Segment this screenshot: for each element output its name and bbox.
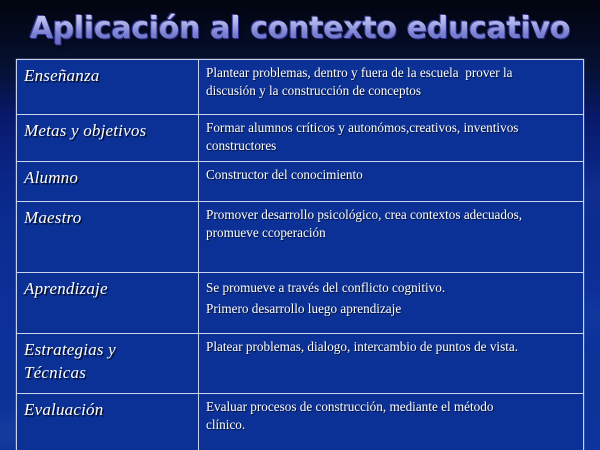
description-line: Evaluar procesos de construcción, median… (206, 398, 576, 416)
description-line: Promover desarrollo psicológico, crea co… (206, 206, 576, 224)
row-description-ensenanza: Plantear problemas, dentro y fuera de la… (199, 60, 584, 115)
slide-title-area: Aplicación al contexto educativo (0, 9, 600, 53)
description-line: Platear problemas, dialogo, intercambio … (206, 338, 576, 356)
row-label-aprendizaje: Aprendizaje (17, 273, 199, 334)
content-table: Enseñanza Plantear problemas, dentro y f… (16, 59, 584, 450)
description-line: Primero desarrollo luego aprendizaje (206, 298, 576, 319)
row-label-metas-y-objetivos: Metas y objetivos (17, 115, 199, 162)
row-label-line: Estrategias y (24, 338, 191, 361)
slide-canvas: Aplicación al contexto educativo Enseñan… (0, 0, 600, 450)
row-description-aprendizaje: Se promueve a través del conflicto cogni… (199, 273, 584, 334)
row-label-alumno: Alumno (17, 162, 199, 202)
table-row: Metas y objetivos Formar alumnos crítico… (17, 115, 584, 162)
description-line: constructores (206, 137, 576, 155)
table-row: Maestro Promover desarrollo psicológico,… (17, 202, 584, 273)
description-line: Formar alumnos críticos y autonómos,crea… (206, 119, 576, 137)
table-row: Aprendizaje Se promueve a través del con… (17, 273, 584, 334)
row-description-maestro: Promover desarrollo psicológico, crea co… (199, 202, 584, 273)
description-line: discusión y la construcción de conceptos (206, 82, 576, 100)
description-line: clínico. (206, 416, 576, 434)
table-row: Alumno Constructor del conocimiento (17, 162, 584, 202)
table-row: Estrategias y Técnicas Platear problemas… (17, 334, 584, 394)
row-description-metas-y-objetivos: Formar alumnos críticos y autonómos,crea… (199, 115, 584, 162)
description-line: Constructor del conocimiento (206, 166, 576, 184)
row-label-estrategias-y-tecnicas: Estrategias y Técnicas (17, 334, 199, 394)
page-title: Aplicación al contexto educativo (30, 9, 570, 49)
row-label-ensenanza: Enseñanza (17, 60, 199, 115)
row-label-maestro: Maestro (17, 202, 199, 273)
row-label-evaluacion: Evaluación (17, 394, 199, 450)
row-description-evaluacion: Evaluar procesos de construcción, median… (199, 394, 584, 450)
row-description-estrategias-y-tecnicas: Platear problemas, dialogo, intercambio … (199, 334, 584, 394)
description-line: Se promueve a través del conflicto cogni… (206, 277, 576, 298)
table-row: Enseñanza Plantear problemas, dentro y f… (17, 60, 584, 115)
row-label-line: Técnicas (24, 361, 191, 384)
table-body: Enseñanza Plantear problemas, dentro y f… (17, 60, 584, 450)
description-line: Plantear problemas, dentro y fuera de la… (206, 64, 576, 82)
description-line: promueve ccoperación (206, 224, 576, 242)
table-row: Evaluación Evaluar procesos de construcc… (17, 394, 584, 450)
row-description-alumno: Constructor del conocimiento (199, 162, 584, 202)
